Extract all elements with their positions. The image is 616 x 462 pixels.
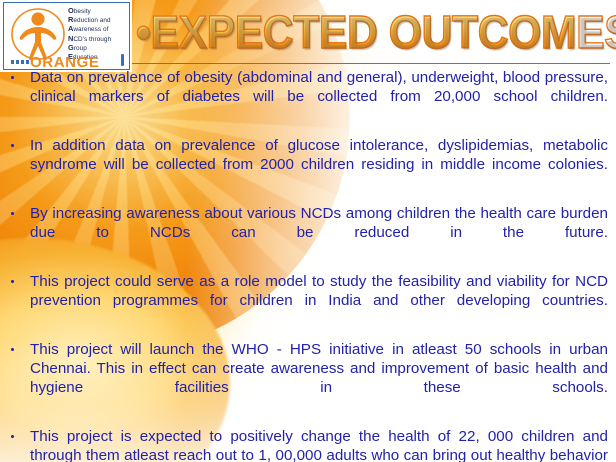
acronym-line: Obesity: [68, 7, 130, 16]
list-item-text: This project is expected to positively c…: [30, 427, 608, 462]
acronym-line: NCD's through: [68, 35, 130, 44]
acronym-line: Awareness of: [68, 25, 130, 34]
list-item: This project will launch the WHO - HPS i…: [0, 340, 616, 416]
bullet-dot-icon: [11, 280, 14, 283]
orange-program-logo: Obesity Reduction and Awareness of NCD's…: [3, 2, 130, 70]
list-item: In addition data on prevalence of glucos…: [0, 136, 616, 193]
list-item-text: By increasing awareness about various NC…: [30, 204, 608, 261]
acronym-line: Group: [68, 44, 130, 53]
outcomes-bullet-list: Data on prevalence of obesity (abdominal…: [0, 68, 616, 462]
list-item-text: Data on prevalence of obesity (abdominal…: [30, 68, 608, 125]
acronym-line: Reduction and: [68, 16, 130, 25]
list-item: This project is expected to positively c…: [0, 427, 616, 462]
list-item-text: This project could serve as a role model…: [30, 272, 608, 329]
list-item: This project could serve as a role model…: [0, 272, 616, 329]
presentation-slide: Obesity Reduction and Awareness of NCD's…: [0, 0, 616, 462]
list-item: By increasing awareness about various NC…: [0, 204, 616, 261]
bullet-dot-icon: [11, 435, 14, 438]
bullet-dot-icon: [11, 212, 14, 215]
logo-blue-tick: [121, 54, 124, 66]
logo-dash-marks: [11, 60, 29, 64]
list-item-text: This project will launch the WHO - HPS i…: [30, 340, 608, 416]
page-title: •EXPECTED OUTCOMES: [136, 6, 573, 58]
bullet-dot-icon: [11, 144, 14, 147]
list-item-text: In addition data on prevalence of glucos…: [30, 136, 608, 193]
title-divider: [132, 63, 610, 64]
slide-title-container: •EXPECTED OUTCOMES: [136, 6, 606, 62]
bullet-dot-icon: [11, 76, 14, 79]
bullet-dot-icon: [11, 348, 14, 351]
list-item: Data on prevalence of obesity (abdominal…: [0, 68, 616, 125]
